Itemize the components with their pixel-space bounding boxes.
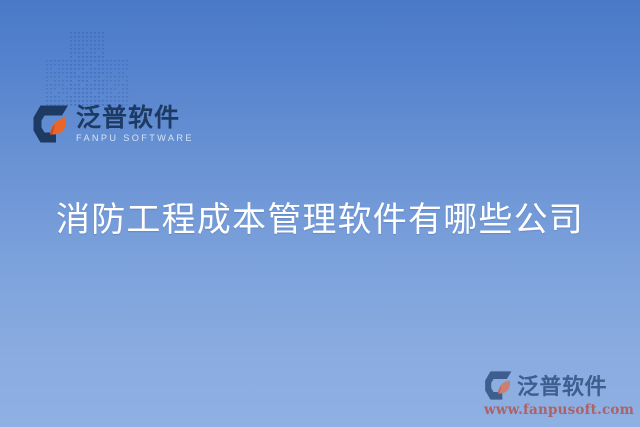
watermark-lockup: 泛普软件: [484, 369, 630, 401]
brand-name-en: FANPU SOFTWARE: [76, 134, 194, 143]
brand-wordmark: 泛普软件 FANPU SOFTWARE: [76, 105, 194, 143]
brand-name-cn: 泛普软件: [76, 105, 194, 130]
brand-lockup: 泛普软件 FANPU SOFTWARE: [32, 104, 194, 144]
page-title: 消防工程成本管理软件有哪些公司: [0, 192, 640, 241]
watermark: 泛普软件 www.fanpusoft.com: [484, 369, 630, 418]
poster-canvas: 泛普软件 FANPU SOFTWARE 消防工程成本管理软件有哪些公司 泛普软件…: [0, 0, 640, 427]
fanpu-logo-icon: [484, 370, 513, 401]
dot-matrix-buildings-icon: [42, 24, 134, 106]
watermark-name-cn: 泛普软件: [517, 369, 607, 401]
fanpu-logo-icon: [32, 104, 70, 144]
watermark-url: www.fanpusoft.com: [484, 402, 630, 418]
